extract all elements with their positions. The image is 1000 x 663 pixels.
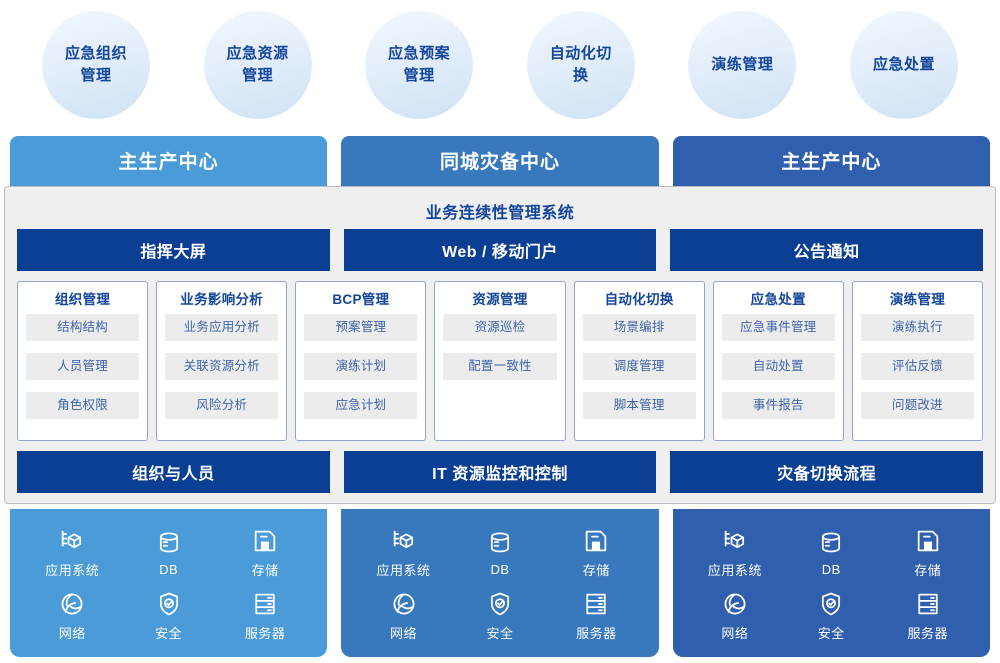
module-item-5-1[interactable]: 自动处置 <box>722 353 835 380</box>
infra-item-app-system-0[interactable]: 应用系统 <box>45 527 99 579</box>
capability-circle-4-line1: 演练管理 <box>701 54 783 76</box>
storage-icon <box>251 527 279 555</box>
module-item-2-1[interactable]: 演练计划 <box>304 353 417 380</box>
infra-item-security-1[interactable]: 安全 <box>486 590 514 642</box>
datacenter-tab-metro-dr[interactable]: 同城灾备中心 <box>341 136 658 192</box>
bcms-band-announcement[interactable]: 公告通知 <box>670 229 983 271</box>
module-item-1-0[interactable]: 业务应用分析 <box>165 314 278 341</box>
datacenter-tab-primary-production[interactable]: 主生产中心 <box>10 136 327 192</box>
infra-label-2-2: 存储 <box>914 560 941 579</box>
infrastructure-row: 应用系统 DB <box>10 509 990 657</box>
application-system-icon <box>721 527 749 555</box>
module-item-6-2[interactable]: 问题改进 <box>861 392 974 419</box>
module-item-4-2[interactable]: 脚本管理 <box>583 392 696 419</box>
infra-item-app-system-2[interactable]: 应用系统 <box>708 527 762 579</box>
capability-circle-4[interactable]: 演练管理 <box>688 11 796 119</box>
database-icon <box>155 529 183 557</box>
infra-label-2-4: 安全 <box>818 623 845 642</box>
server-icon <box>914 590 942 618</box>
infra-label-0-3: 网络 <box>59 623 86 642</box>
infra-item-app-system-1[interactable]: 应用系统 <box>377 527 431 579</box>
datacenter-tab-row: 主生产中心 同城灾备中心 主生产中心 <box>10 136 990 192</box>
module-card-emergency-response[interactable]: 应急处置 应急事件管理 自动处置 事件报告 <box>713 281 844 441</box>
module-item-4-1[interactable]: 调度管理 <box>583 353 696 380</box>
module-item-6-0[interactable]: 演练执行 <box>861 314 974 341</box>
module-card-4-title: 自动化切换 <box>583 290 696 314</box>
server-icon <box>251 590 279 618</box>
infra-label-0-2: 存储 <box>252 560 279 579</box>
infra-item-server-2[interactable]: 服务器 <box>908 590 949 642</box>
capability-circle-1-line1: 应急资源 <box>217 43 299 65</box>
module-item-0-2[interactable]: 角色权限 <box>26 392 139 419</box>
infra-item-server-1[interactable]: 服务器 <box>576 590 617 642</box>
infra-item-db-1[interactable]: DB <box>486 529 514 577</box>
capability-circle-2-line1: 应急预案 <box>378 43 460 65</box>
infra-label-1-5: 服务器 <box>576 623 617 642</box>
bcms-band-it-resource-monitoring[interactable]: IT 资源监控和控制 <box>344 451 657 493</box>
infra-item-security-2[interactable]: 安全 <box>817 590 845 642</box>
bcms-band-org-and-people[interactable]: 组织与人员 <box>17 451 330 493</box>
infra-label-2-1: DB <box>822 562 841 577</box>
capability-circle-0-line1: 应急组织 <box>55 43 137 65</box>
architecture-diagram: 应急组织 管理 应急资源 管理 应急预案 管理 自动化切换 演练管理 <box>0 0 1000 663</box>
module-item-4-0[interactable]: 场景编排 <box>583 314 696 341</box>
module-item-5-2[interactable]: 事件报告 <box>722 392 835 419</box>
infra-label-0-0: 应用系统 <box>45 560 99 579</box>
infra-item-db-0[interactable]: DB <box>155 529 183 577</box>
module-card-6-title: 演练管理 <box>861 290 974 314</box>
module-card-drill-management[interactable]: 演练管理 演练执行 评估反馈 问题改进 <box>852 281 983 441</box>
bcms-top-band-1-label: Web / 移动门户 <box>442 238 558 262</box>
bcms-band-dr-switchover-process[interactable]: 灾备切换流程 <box>670 451 983 493</box>
bcms-top-band-2-label: 公告通知 <box>794 238 860 262</box>
infra-label-0-5: 服务器 <box>245 623 286 642</box>
module-item-2-0[interactable]: 预案管理 <box>304 314 417 341</box>
infra-item-server-0[interactable]: 服务器 <box>245 590 286 642</box>
module-item-1-2[interactable]: 风险分析 <box>165 392 278 419</box>
module-card-row: 组织管理 结构结构 人员管理 角色权限 业务影响分析 业务应用分析 关联资源分析… <box>17 281 983 441</box>
infra-item-storage-2[interactable]: 存储 <box>914 527 942 579</box>
capability-circle-1[interactable]: 应急资源 管理 <box>204 11 312 119</box>
capability-circle-3[interactable]: 自动化切换 <box>527 11 635 119</box>
capability-circle-0[interactable]: 应急组织 管理 <box>42 11 150 119</box>
module-item-5-0[interactable]: 应急事件管理 <box>722 314 835 341</box>
module-card-automated-switchover[interactable]: 自动化切换 场景编排 调度管理 脚本管理 <box>574 281 705 441</box>
module-card-org-management[interactable]: 组织管理 结构结构 人员管理 角色权限 <box>17 281 148 441</box>
application-system-icon <box>58 527 86 555</box>
module-card-bcp-management[interactable]: BCP管理 预案管理 演练计划 应急计划 <box>295 281 426 441</box>
infrastructure-panel-metro-dr: 应用系统 DB <box>341 509 658 657</box>
infra-label-1-1: DB <box>490 562 509 577</box>
datacenter-tab-1-label: 同城灾备中心 <box>440 147 560 174</box>
infra-label-0-1: DB <box>159 562 178 577</box>
security-shield-icon <box>486 590 514 618</box>
module-card-resource-management[interactable]: 资源管理 资源巡检 配置一致性 <box>434 281 565 441</box>
module-card-0-title: 组织管理 <box>26 290 139 314</box>
infra-label-1-4: 安全 <box>486 623 513 642</box>
network-icon <box>721 590 749 618</box>
bcms-bottom-band-row: 组织与人员 IT 资源监控和控制 灾备切换流程 <box>17 451 983 493</box>
module-card-2-title: BCP管理 <box>304 290 417 314</box>
network-icon <box>58 590 86 618</box>
network-icon <box>390 590 418 618</box>
bcms-top-band-row: 指挥大屏 Web / 移动门户 公告通知 <box>17 229 983 271</box>
module-item-6-1[interactable]: 评估反馈 <box>861 353 974 380</box>
bcms-top-band-0-label: 指挥大屏 <box>140 238 206 262</box>
database-icon <box>817 529 845 557</box>
infra-label-0-4: 安全 <box>155 623 182 642</box>
infrastructure-panel-remote-production: 应用系统 DB <box>673 509 990 657</box>
infra-item-network-2[interactable]: 网络 <box>721 590 749 642</box>
bcms-band-web-mobile-portal[interactable]: Web / 移动门户 <box>344 229 657 271</box>
module-item-3-0[interactable]: 资源巡检 <box>443 314 556 341</box>
infra-label-1-0: 应用系统 <box>377 560 431 579</box>
bcms-bottom-band-2-label: 灾备切换流程 <box>777 460 876 484</box>
module-card-1-title: 业务影响分析 <box>165 290 278 314</box>
capability-circle-0-line2: 管理 <box>55 65 137 87</box>
application-system-icon <box>390 527 418 555</box>
infra-label-2-5: 服务器 <box>908 623 949 642</box>
security-shield-icon <box>155 590 183 618</box>
module-item-3-1[interactable]: 配置一致性 <box>443 353 556 380</box>
module-item-2-2[interactable]: 应急计划 <box>304 392 417 419</box>
infra-label-1-3: 网络 <box>390 623 417 642</box>
capability-circle-2[interactable]: 应急预案 管理 <box>365 11 473 119</box>
capability-circle-3-line1: 自动化切换 <box>537 43 625 87</box>
capability-circle-row: 应急组织 管理 应急资源 管理 应急预案 管理 自动化切换 演练管理 <box>0 6 1000 124</box>
database-icon <box>486 529 514 557</box>
bcms-band-command-screen[interactable]: 指挥大屏 <box>17 229 330 271</box>
capability-circle-2-line2: 管理 <box>378 65 460 87</box>
module-item-0-1[interactable]: 人员管理 <box>26 353 139 380</box>
infra-label-1-2: 存储 <box>583 560 610 579</box>
module-card-5-title: 应急处置 <box>722 290 835 314</box>
bcms-panel: 业务连续性管理系统 指挥大屏 Web / 移动门户 公告通知 组织管理 结构结构… <box>4 186 996 504</box>
capability-circle-5-line1: 应急处置 <box>863 54 945 76</box>
storage-icon <box>914 527 942 555</box>
bcms-bottom-band-0-label: 组织与人员 <box>132 460 215 484</box>
infrastructure-panel-primary-production: 应用系统 DB <box>10 509 327 657</box>
infra-item-db-2[interactable]: DB <box>817 529 845 577</box>
infra-item-network-1[interactable]: 网络 <box>390 590 418 642</box>
infra-label-2-0: 应用系统 <box>708 560 762 579</box>
infra-item-storage-0[interactable]: 存储 <box>251 527 279 579</box>
module-item-1-1[interactable]: 关联资源分析 <box>165 353 278 380</box>
infra-item-security-0[interactable]: 安全 <box>155 590 183 642</box>
module-item-0-0[interactable]: 结构结构 <box>26 314 139 341</box>
bcms-panel-title: 业务连续性管理系统 <box>17 195 983 227</box>
infra-item-storage-1[interactable]: 存储 <box>582 527 610 579</box>
infra-item-network-0[interactable]: 网络 <box>58 590 86 642</box>
module-card-3-title: 资源管理 <box>443 290 556 314</box>
server-icon <box>582 590 610 618</box>
datacenter-tab-0-label: 主生产中心 <box>119 147 219 174</box>
storage-icon <box>582 527 610 555</box>
capability-circle-1-line2: 管理 <box>217 65 299 87</box>
infra-label-2-3: 网络 <box>721 623 748 642</box>
module-card-business-impact-analysis[interactable]: 业务影响分析 业务应用分析 关联资源分析 风险分析 <box>156 281 287 441</box>
bcms-bottom-band-1-label: IT 资源监控和控制 <box>432 460 568 484</box>
datacenter-tab-remote-production[interactable]: 主生产中心 <box>673 136 990 192</box>
security-shield-icon <box>817 590 845 618</box>
datacenter-tab-2-label: 主生产中心 <box>781 147 881 174</box>
capability-circle-5[interactable]: 应急处置 <box>850 11 958 119</box>
